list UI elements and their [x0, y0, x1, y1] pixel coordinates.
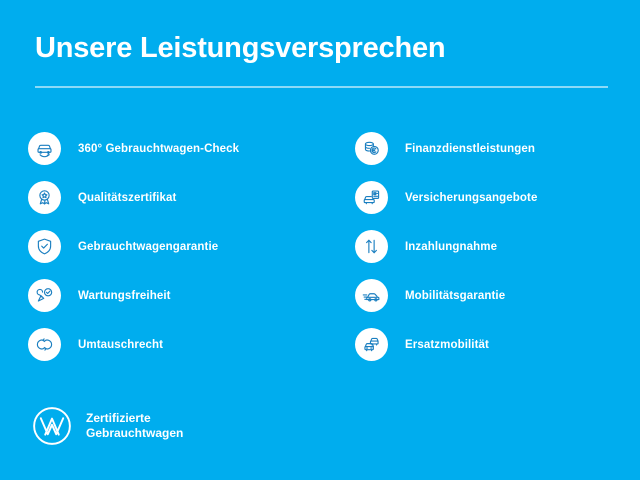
list-item-label: Wartungsfreiheit [78, 290, 171, 302]
promises-right-column: Finanzdienstleistungen Versicherungsange… [355, 124, 635, 369]
car-360-check-icon [28, 132, 61, 165]
exchange-arrows-icon [28, 328, 61, 361]
vw-brand-line-1: Zertifizierte [86, 411, 183, 426]
list-item-label: Ersatzmobilität [405, 339, 489, 351]
two-cars-icon [355, 328, 388, 361]
list-item-label: Gebrauchtwagengarantie [78, 241, 218, 253]
list-item[interactable]: Gebrauchtwagengarantie [28, 222, 328, 271]
list-item[interactable]: Mobilitätsgarantie [355, 271, 635, 320]
list-item[interactable]: Finanzdienstleistungen [355, 124, 635, 173]
list-item[interactable]: Qualitätszertifikat [28, 173, 328, 222]
list-item[interactable]: Ersatzmobilität [355, 320, 635, 369]
wrench-check-icon [28, 279, 61, 312]
promises-poster: Unsere Leistungsversprechen 360° Gebrauc… [0, 0, 640, 480]
vw-brand-line-2: Gebrauchtwagen [86, 426, 183, 441]
list-item-label: Qualitätszertifikat [78, 192, 176, 204]
vw-logo-icon [30, 404, 74, 448]
list-item[interactable]: Inzahlungnahme [355, 222, 635, 271]
promises-left-column: 360° Gebrauchtwagen-Check Qualitätszerti… [28, 124, 328, 369]
vw-brand-text: Zertifizierte Gebrauchtwagen [86, 411, 183, 441]
list-item-label: 360° Gebrauchtwagen-Check [78, 143, 239, 155]
coins-euro-icon [355, 132, 388, 165]
award-rosette-icon [28, 181, 61, 214]
list-item-label: Inzahlungnahme [405, 241, 497, 253]
shield-check-icon [28, 230, 61, 263]
up-down-arrows-icon [355, 230, 388, 263]
list-item[interactable]: Umtauschrecht [28, 320, 328, 369]
car-clipboard-icon [355, 181, 388, 214]
list-item[interactable]: Wartungsfreiheit [28, 271, 328, 320]
vw-brand-footer: Zertifizierte Gebrauchtwagen [30, 404, 183, 448]
title-divider [35, 86, 608, 88]
list-item[interactable]: 360° Gebrauchtwagen-Check [28, 124, 328, 173]
list-item-label: Versicherungsangebote [405, 192, 537, 204]
list-item-label: Finanzdienstleistungen [405, 143, 535, 155]
page-title: Unsere Leistungsversprechen [35, 32, 445, 65]
list-item-label: Mobilitätsgarantie [405, 290, 505, 302]
moving-car-icon [355, 279, 388, 312]
list-item[interactable]: Versicherungsangebote [355, 173, 635, 222]
list-item-label: Umtauschrecht [78, 339, 163, 351]
